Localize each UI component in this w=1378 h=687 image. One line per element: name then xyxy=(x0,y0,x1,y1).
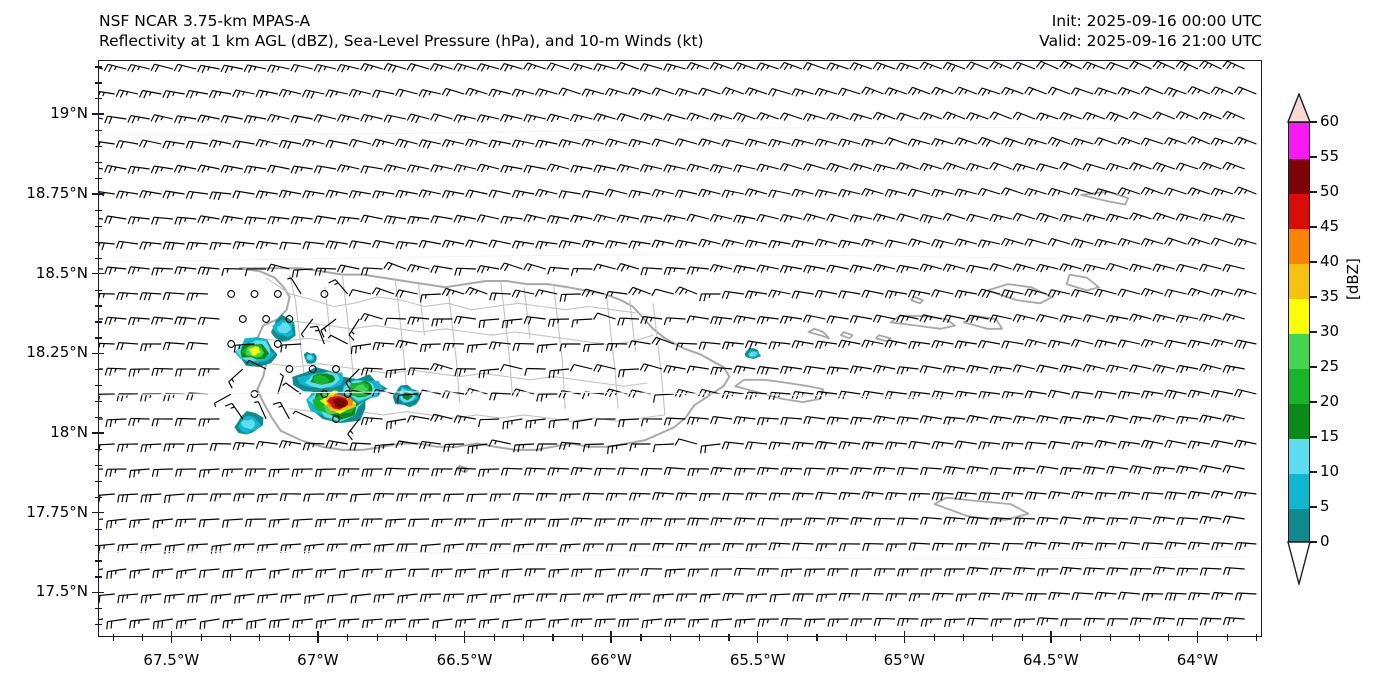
barb-full xyxy=(408,217,411,224)
barb-full xyxy=(902,468,904,475)
wind-barb xyxy=(710,114,732,122)
wind-barb xyxy=(1235,543,1256,551)
wind-barb xyxy=(886,544,907,551)
wind-barb xyxy=(314,216,336,224)
barb-shaft xyxy=(690,316,709,319)
wind-barb xyxy=(699,139,721,147)
barb-full xyxy=(423,141,426,148)
barb-full xyxy=(793,543,795,550)
wind-barb xyxy=(1223,264,1245,272)
barb-full xyxy=(967,366,970,373)
barb-full xyxy=(1188,137,1192,143)
wind-barb xyxy=(385,468,406,475)
barb-full xyxy=(145,344,147,351)
barb-full xyxy=(152,368,154,375)
wind-barb xyxy=(1130,314,1152,322)
barb-full xyxy=(548,267,550,274)
barb-shaft xyxy=(99,469,103,470)
barb-full xyxy=(948,418,951,425)
barb-full xyxy=(971,366,974,373)
barb-full xyxy=(1234,87,1238,93)
barb-full xyxy=(641,569,643,576)
wind-barb xyxy=(1165,340,1187,348)
wind-barb xyxy=(200,569,220,578)
barb-full xyxy=(339,520,341,527)
barb-half xyxy=(849,493,850,497)
barb-shaft xyxy=(760,367,779,369)
barb-full xyxy=(575,65,579,71)
wind-barb xyxy=(1153,264,1175,272)
barb-full xyxy=(549,570,550,577)
barb-full xyxy=(377,140,381,147)
barb-full xyxy=(932,493,934,500)
barb-full xyxy=(959,190,963,197)
barb-full xyxy=(435,166,438,173)
barb-full xyxy=(250,519,252,526)
barb-half xyxy=(348,519,349,523)
wind-barb xyxy=(955,291,977,299)
wind-barb xyxy=(1095,492,1116,500)
barb-shaft xyxy=(923,517,942,519)
barb-full xyxy=(244,166,247,173)
barb-shaft xyxy=(679,439,697,444)
barb-full xyxy=(879,518,881,525)
barb-shaft xyxy=(331,335,348,344)
barb-half xyxy=(837,468,838,472)
barb-full xyxy=(529,468,531,475)
wind-barb xyxy=(384,165,406,173)
wind-barb xyxy=(816,492,837,500)
barb-full xyxy=(402,596,403,603)
wind-barb xyxy=(130,519,150,528)
barb-half xyxy=(1151,241,1153,244)
barb-full xyxy=(400,291,403,298)
barb-half xyxy=(1187,569,1188,573)
barb-full xyxy=(407,64,411,71)
wind-barb xyxy=(571,468,592,476)
barb-shaft xyxy=(946,517,965,519)
barb-full xyxy=(827,113,831,119)
barb-full xyxy=(1118,188,1122,194)
barb-full xyxy=(691,115,695,121)
wind-barb xyxy=(1153,365,1175,374)
barb-half xyxy=(441,319,442,323)
barb-shaft xyxy=(1004,442,1023,444)
barb-full xyxy=(576,518,578,525)
barb-full xyxy=(885,138,889,144)
barb-full xyxy=(595,570,596,577)
barb-full xyxy=(796,90,800,97)
barb-full xyxy=(769,139,772,146)
barb-full xyxy=(1083,265,1086,272)
barb-full xyxy=(211,546,212,553)
wind-barb xyxy=(606,241,628,249)
barb-full xyxy=(851,518,853,525)
wind-barb xyxy=(536,189,558,197)
barb-shaft xyxy=(1098,543,1117,544)
barb-shaft xyxy=(667,468,686,470)
wind-barb xyxy=(1060,113,1082,121)
barb-half xyxy=(1163,568,1164,572)
wind-barb xyxy=(967,568,988,576)
barb-full xyxy=(524,63,528,69)
barb-full xyxy=(664,318,666,325)
barb-shaft xyxy=(888,493,907,494)
barb-shaft xyxy=(215,394,232,403)
barb-half xyxy=(267,494,268,498)
barb-full xyxy=(734,468,736,475)
barb-half xyxy=(149,192,151,196)
barb-shaft xyxy=(771,442,790,444)
barb-full xyxy=(792,442,794,449)
barb-shaft xyxy=(1005,392,1024,394)
wind-barb xyxy=(188,594,208,603)
barb-half xyxy=(487,117,489,121)
wind-barb xyxy=(1223,314,1245,322)
barb-full xyxy=(1188,492,1191,499)
barb-shaft xyxy=(760,418,779,419)
barb-half xyxy=(849,443,850,447)
barb-shaft xyxy=(352,344,371,347)
barb-half xyxy=(592,91,594,95)
barb-half xyxy=(1210,518,1212,522)
wind-barb xyxy=(442,191,464,199)
wind-barb xyxy=(199,469,219,478)
barb-half xyxy=(452,242,454,246)
barb-shaft xyxy=(608,292,627,295)
barb-full xyxy=(454,64,458,71)
barb-full xyxy=(944,417,947,424)
barb-full xyxy=(132,167,135,174)
barb-full xyxy=(1072,492,1075,499)
barb-full xyxy=(1048,239,1052,246)
barb-full xyxy=(233,191,236,198)
barb-full xyxy=(757,113,761,119)
barb-half xyxy=(1116,166,1118,169)
barb-half xyxy=(1221,342,1223,346)
wind-barb xyxy=(885,88,907,96)
wind-barb xyxy=(1083,416,1105,424)
barb-full xyxy=(1111,467,1114,474)
wind-barb xyxy=(594,313,616,319)
barb-full xyxy=(524,317,527,324)
barb-half xyxy=(150,595,151,599)
barb-full xyxy=(1181,467,1184,474)
barb-full xyxy=(198,317,200,324)
barb-half xyxy=(627,167,629,171)
barb-shaft xyxy=(166,242,185,244)
barb-shaft xyxy=(294,166,313,169)
barb-half xyxy=(1186,115,1188,118)
barb-half xyxy=(441,416,443,420)
barb-half xyxy=(647,419,648,423)
wind-barb xyxy=(233,242,255,250)
barb-full xyxy=(691,215,695,222)
barb-half xyxy=(464,417,466,421)
wind-barb xyxy=(537,344,557,353)
wind-barb xyxy=(827,367,848,375)
barb-half xyxy=(360,545,361,549)
barb-full xyxy=(176,369,178,376)
wind-barb xyxy=(442,240,464,248)
wind-barb xyxy=(1106,264,1128,272)
wind-barb xyxy=(560,544,580,552)
wind-barb xyxy=(1142,492,1163,500)
barb-full xyxy=(214,243,216,250)
barb-full xyxy=(204,470,205,477)
barb-shaft xyxy=(655,493,674,494)
wind-barb xyxy=(339,519,360,527)
barb-full xyxy=(656,191,659,198)
barb-full xyxy=(489,190,492,197)
barb-half xyxy=(510,66,512,69)
barb-full xyxy=(239,596,240,603)
barb-full xyxy=(1145,341,1149,348)
municipality-line xyxy=(524,287,530,338)
barb-half xyxy=(126,293,127,297)
barb-full xyxy=(1111,215,1115,222)
barb-half xyxy=(744,367,746,371)
wind-barb xyxy=(165,544,185,554)
barb-full xyxy=(1053,492,1056,499)
barb-full xyxy=(947,64,951,70)
barb-full xyxy=(1017,215,1021,222)
barb-half xyxy=(266,243,268,247)
barb-full xyxy=(1106,264,1110,271)
barb-shaft xyxy=(958,341,977,344)
wind-barb xyxy=(885,138,907,146)
barb-full xyxy=(122,444,124,451)
barb-half xyxy=(1128,393,1130,397)
barb-shaft xyxy=(818,392,837,395)
barb-full xyxy=(1146,392,1149,399)
barb-full xyxy=(630,444,632,451)
barb-full xyxy=(758,518,760,525)
barb-shaft xyxy=(119,343,138,344)
barb-full xyxy=(1071,138,1075,144)
wind-barb xyxy=(1200,415,1222,423)
wind-barb xyxy=(524,115,546,123)
wind-barb xyxy=(619,369,639,377)
barb-full xyxy=(547,164,551,171)
wind-barb xyxy=(1165,238,1187,246)
barb-half xyxy=(1117,518,1118,522)
barb-full xyxy=(621,265,625,272)
wind-barb xyxy=(279,441,301,449)
barb-half xyxy=(1163,65,1165,68)
barb-full xyxy=(1099,341,1102,348)
wind-barb xyxy=(1049,542,1070,550)
barb-half xyxy=(220,243,221,247)
barb-full xyxy=(1180,164,1184,170)
wind-barb xyxy=(186,91,208,99)
barb-half xyxy=(231,407,235,408)
barb-full xyxy=(792,240,795,247)
wind-barb xyxy=(955,138,977,146)
wind-barb xyxy=(862,87,884,95)
barb-full xyxy=(156,369,158,376)
island-cay-a xyxy=(841,332,853,338)
barb-half xyxy=(802,342,804,346)
barb-half xyxy=(150,545,151,549)
barb-half xyxy=(848,342,850,346)
barb-full xyxy=(177,571,178,579)
wind-barb xyxy=(1211,238,1233,246)
wind-barb xyxy=(944,569,965,576)
barb-full xyxy=(361,314,365,320)
barb-shaft xyxy=(99,569,103,571)
barb-full xyxy=(397,494,399,501)
barb-full xyxy=(129,418,131,425)
barb-half xyxy=(511,519,512,523)
barb-shaft xyxy=(865,492,884,494)
barb-full xyxy=(780,113,784,119)
barb-shaft xyxy=(305,443,324,444)
barb-half xyxy=(1070,266,1072,269)
wind-barb xyxy=(128,166,150,174)
barb-full xyxy=(425,595,427,602)
barb-full xyxy=(121,343,123,350)
barb-half xyxy=(756,544,757,548)
wind-barb xyxy=(477,64,499,72)
barb-half xyxy=(138,419,139,423)
barb-full xyxy=(202,268,205,275)
barb-half xyxy=(301,334,304,337)
wind-barb xyxy=(710,165,732,174)
barb-half xyxy=(488,370,489,374)
barb-half xyxy=(674,367,676,371)
barb-shaft xyxy=(1098,492,1117,494)
barb-full xyxy=(824,443,827,450)
barb-shaft xyxy=(177,217,196,219)
wind-barb xyxy=(594,365,616,373)
wind-barb xyxy=(897,63,919,71)
barb-full xyxy=(819,140,823,147)
wind-barb xyxy=(512,190,534,198)
barb-full xyxy=(407,265,410,272)
barb-full xyxy=(909,493,911,500)
wind-barb xyxy=(617,114,639,122)
wind-barb xyxy=(897,265,919,273)
barb-full xyxy=(517,344,519,351)
barb-full xyxy=(646,469,648,476)
barb-full xyxy=(1227,366,1230,373)
barb-full xyxy=(762,569,764,576)
barb-half xyxy=(371,369,372,373)
barb-half xyxy=(1012,443,1013,447)
barb-shaft xyxy=(119,241,138,244)
barb-full xyxy=(866,89,870,95)
barb-full xyxy=(987,291,991,298)
barb-half xyxy=(988,242,990,246)
barb-full xyxy=(372,139,375,146)
barb-half xyxy=(500,544,501,548)
barb-half xyxy=(953,367,955,371)
barb-full xyxy=(116,141,119,148)
barb-full xyxy=(703,90,707,96)
barb-half xyxy=(1233,65,1235,68)
barb-full xyxy=(379,545,380,552)
barb-full xyxy=(804,468,806,475)
barb-full xyxy=(714,115,718,122)
barb-full xyxy=(850,265,853,272)
barb-full xyxy=(431,266,434,273)
barb-full xyxy=(932,139,936,146)
figure-canvas: NSF NCAR 3.75-km MPAS-A Reflectivity at … xyxy=(0,0,1378,687)
barb-full xyxy=(525,369,527,376)
wind-barb xyxy=(348,419,360,440)
barb-half xyxy=(231,167,233,171)
wind-barb xyxy=(269,469,289,477)
barb-half xyxy=(103,344,104,348)
barb-full xyxy=(447,141,450,148)
barb-full xyxy=(734,316,737,323)
barb-full xyxy=(448,494,450,501)
barb-full xyxy=(490,293,492,300)
barb-full xyxy=(598,166,601,173)
wind-barb xyxy=(955,341,977,349)
wind-barb xyxy=(187,242,208,250)
barb-full xyxy=(1239,543,1241,550)
barb-full xyxy=(349,139,352,146)
barb-full xyxy=(1234,239,1238,246)
wind-barb xyxy=(1036,264,1058,272)
barb-full xyxy=(198,216,201,223)
wind-barb xyxy=(420,344,440,352)
barb-half xyxy=(104,545,105,549)
barb-full xyxy=(351,347,352,355)
barb-full xyxy=(584,345,586,352)
wind-barb xyxy=(1038,569,1059,576)
barb-full xyxy=(1088,517,1091,524)
barb-full xyxy=(156,167,159,174)
barb-full xyxy=(187,293,189,300)
wind-barb xyxy=(1118,138,1140,146)
barb-full xyxy=(1087,215,1091,222)
barb-half xyxy=(1012,493,1013,497)
barb-full xyxy=(470,140,474,147)
barb-half xyxy=(1023,317,1025,321)
barb-full xyxy=(873,315,876,322)
barb-full xyxy=(547,63,551,69)
barb-full xyxy=(711,367,713,374)
barb-shaft xyxy=(1133,568,1152,569)
barb-shaft xyxy=(853,417,872,419)
wind-barb xyxy=(559,191,581,199)
barb-half xyxy=(790,368,792,372)
barb-full xyxy=(750,241,753,248)
barb-half xyxy=(569,142,571,146)
barb-full xyxy=(653,445,655,452)
wind-barb xyxy=(187,293,208,300)
barb-full xyxy=(1169,341,1172,348)
barb-half xyxy=(545,91,547,95)
wind-barb xyxy=(851,569,872,577)
barb-full xyxy=(586,140,590,147)
wind-barb xyxy=(1177,518,1198,525)
barb-full xyxy=(128,116,131,123)
barb-full xyxy=(805,569,807,576)
barb-half xyxy=(499,343,500,347)
barb-full xyxy=(1087,266,1090,273)
barb-full xyxy=(863,544,865,551)
barb-half xyxy=(662,192,664,196)
barb-full xyxy=(827,316,830,323)
barb-full xyxy=(609,90,613,96)
barb-half xyxy=(767,66,769,69)
barb-shaft xyxy=(970,568,989,570)
barb-shaft xyxy=(935,391,954,394)
